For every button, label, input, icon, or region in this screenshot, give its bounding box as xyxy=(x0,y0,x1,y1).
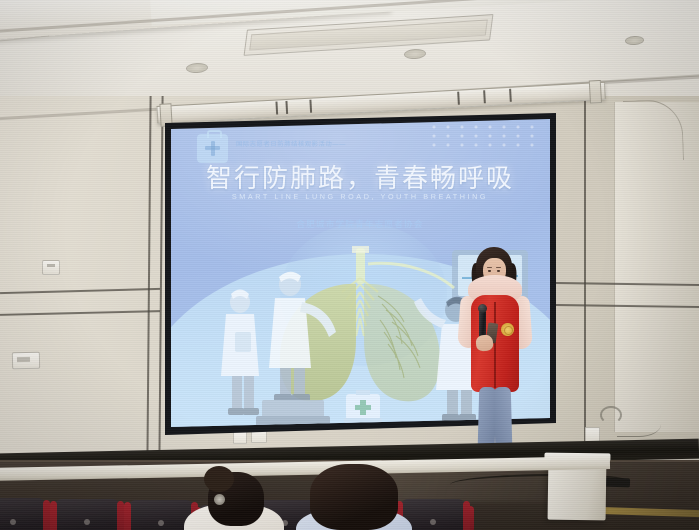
roller-tab xyxy=(457,92,460,105)
presenter-eye xyxy=(497,270,500,272)
microphone-head xyxy=(478,304,487,313)
wall-power-outlet[interactable] xyxy=(585,427,600,442)
seat[interactable] xyxy=(54,499,120,530)
ceiling-air-vent-icon xyxy=(244,14,494,56)
wall-power-outlet[interactable] xyxy=(12,352,40,369)
presenter-eyebrow xyxy=(496,267,501,268)
volunteer-badge-icon xyxy=(501,323,514,336)
presenter-hands xyxy=(475,334,493,351)
seat-knob xyxy=(84,519,90,525)
seat-knob xyxy=(430,519,436,525)
audience-member-right xyxy=(292,464,416,530)
vent-grille xyxy=(249,19,488,50)
roller-tab xyxy=(275,101,278,114)
wall-light-switch[interactable] xyxy=(42,260,60,275)
kit-handle xyxy=(207,130,222,138)
presenter-eye xyxy=(488,270,491,272)
slide-kicker-text: 国际志愿者日防肺结核观影活动—— xyxy=(236,139,436,148)
recessed-downlight-icon xyxy=(404,48,427,59)
recessed-downlight-icon xyxy=(625,35,645,45)
slide-dot-grid-decoration xyxy=(428,122,544,150)
audience-hair xyxy=(310,464,398,530)
first-aid-case-icon xyxy=(344,390,382,423)
wall-cable xyxy=(617,412,661,437)
audience-seating xyxy=(0,468,699,530)
roller-tab xyxy=(509,89,512,102)
recessed-downlight-icon xyxy=(186,62,209,73)
roller-bracket xyxy=(589,80,602,104)
wall-groove-line xyxy=(584,100,586,456)
presenter-eyebrow xyxy=(487,267,492,268)
seat[interactable] xyxy=(0,498,46,530)
doctor-left-figure xyxy=(221,290,259,416)
slide-title: 智行防肺路，青春畅呼吸 xyxy=(170,158,550,195)
kit-cross xyxy=(205,146,220,150)
vest-zipper xyxy=(494,302,496,388)
roller-tab xyxy=(285,101,288,114)
audience-member-left xyxy=(178,468,288,530)
audience-hair-bun xyxy=(204,466,234,492)
seat-knob xyxy=(158,520,164,526)
hair-clip-icon xyxy=(214,494,225,505)
seat-knob xyxy=(10,519,16,525)
slide-subtitle: SMART LINE LUNG ROAD, YOUTH BREATHING xyxy=(170,192,550,201)
roller-tab xyxy=(483,90,486,103)
slide-organization: 合肥城市学院青年志愿者协会 xyxy=(170,218,550,230)
lecture-hall-photo: 国际志愿者日防肺结核观影活动—— 智行防肺路，青春畅呼吸 SMART LINE … xyxy=(0,0,699,530)
roller-tab xyxy=(309,100,312,113)
ceiling-corner-detail xyxy=(0,35,52,75)
